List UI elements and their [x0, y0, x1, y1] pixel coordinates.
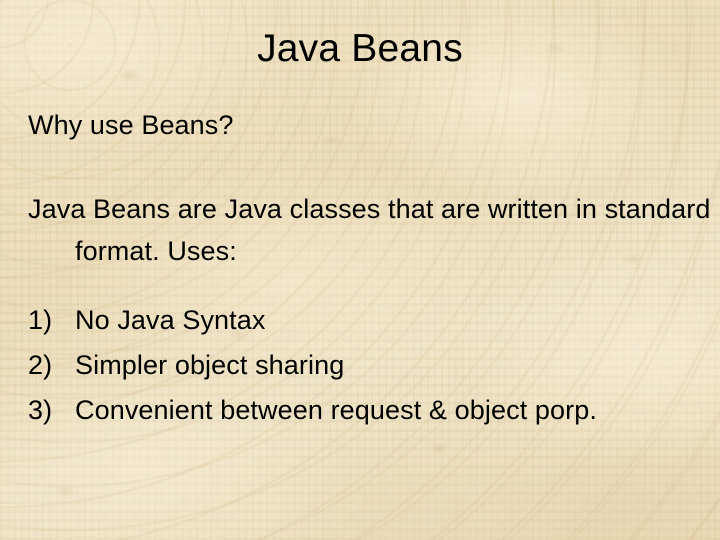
page-title: Java Beans: [0, 26, 720, 72]
list-item: 3) Convenient between request & object p…: [28, 388, 700, 433]
list-item-label: Simpler object sharing: [75, 343, 344, 388]
numbered-list: 1) No Java Syntax 2) Simpler object shar…: [28, 298, 700, 433]
list-item: 2) Simpler object sharing: [28, 343, 700, 388]
list-item-marker: 1): [28, 298, 75, 343]
blank-line-2: [28, 272, 700, 298]
body-paragraph: Java Beans are Java classes that are wri…: [28, 188, 720, 272]
list-item: 1) No Java Syntax: [28, 298, 700, 343]
list-item-marker: 3): [28, 388, 75, 433]
slide-body: Why use Beans? Java Beans are Java class…: [28, 104, 700, 433]
body-heading: Why use Beans?: [28, 104, 700, 146]
blank-line-1: [28, 146, 700, 188]
list-item-marker: 2): [28, 343, 75, 388]
slide: Java Beans Why use Beans? Java Beans are…: [0, 0, 720, 540]
list-item-label: Convenient between request & object porp…: [75, 388, 597, 433]
list-item-label: No Java Syntax: [75, 298, 266, 343]
